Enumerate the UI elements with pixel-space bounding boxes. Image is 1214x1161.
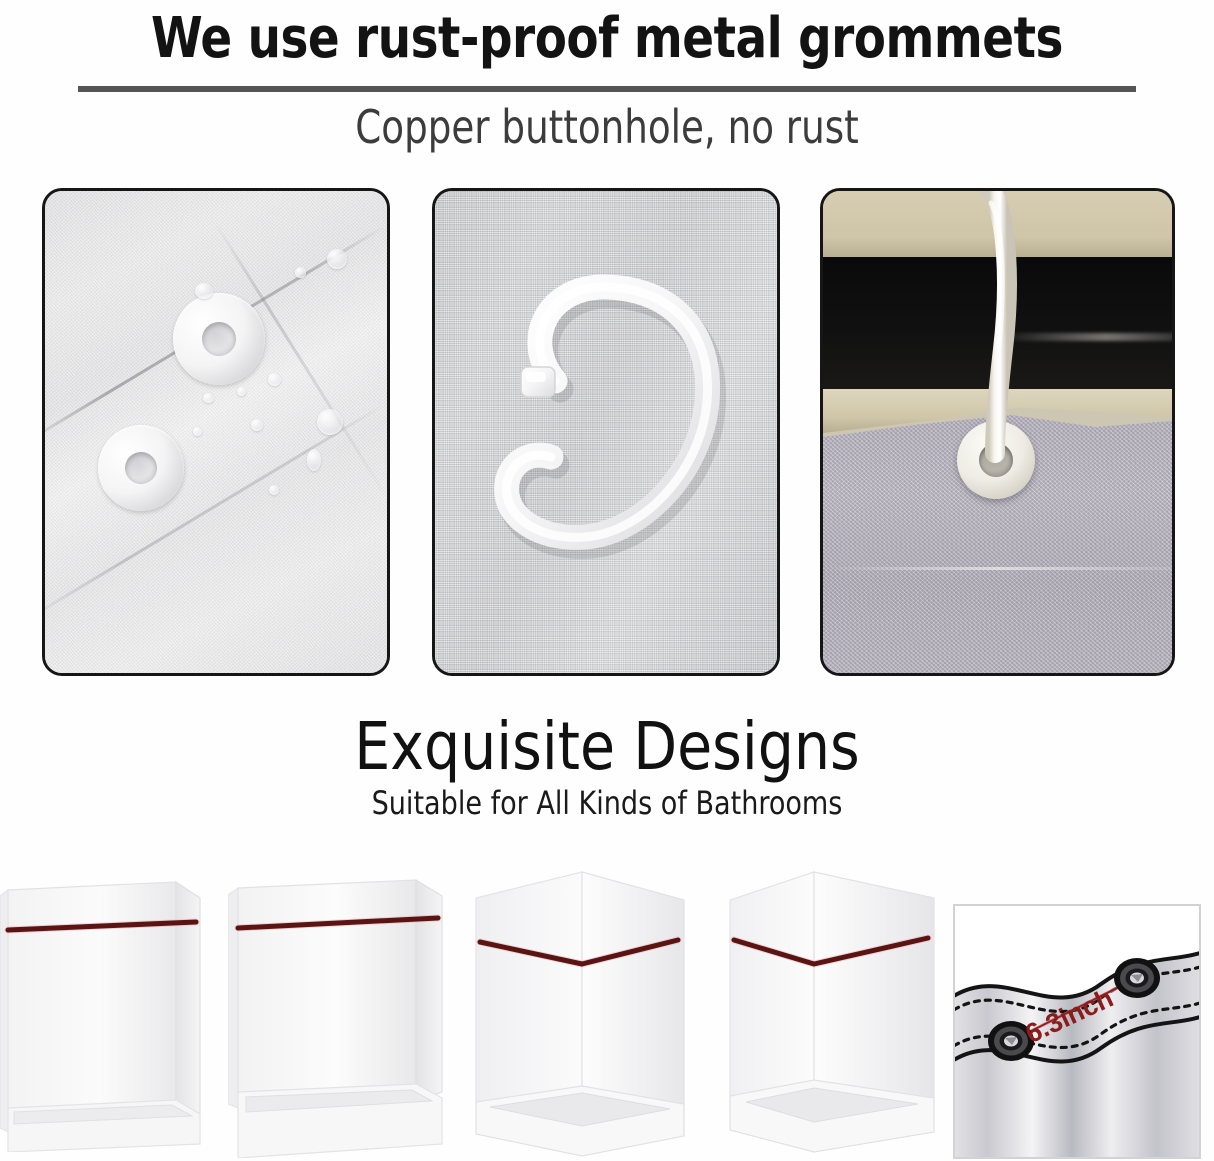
stall-corner-tub-L-rod <box>722 864 948 1161</box>
grommet-hole <box>198 318 239 359</box>
stall-alcove-shower-straight-rod <box>0 872 206 1152</box>
page-subtitle: Copper buttonhole, no rust <box>61 100 1154 154</box>
water-droplet <box>268 373 281 386</box>
photo-card-hook-on-rod <box>820 188 1175 676</box>
water-droplet <box>193 427 202 436</box>
stall-alcove-tub-straight-rod <box>228 868 450 1158</box>
hook-through-grommet-icon <box>973 188 1019 465</box>
water-droplet <box>307 449 321 471</box>
curtain-hook-icon <box>435 191 777 673</box>
infographic-page: We use rust-proof metal grommets Copper … <box>0 0 1214 1161</box>
water-droplet <box>269 485 279 495</box>
stall-corner-shower-L-rod <box>470 864 700 1161</box>
water-droplet <box>195 283 213 299</box>
water-droplet <box>317 409 343 435</box>
section-title: Exquisite Designs <box>24 708 1189 785</box>
grommet-spacing-detail-panel: 6.3inch <box>953 904 1201 1159</box>
stall-illustration-row: 6.3inch <box>0 858 1214 1161</box>
section-subtitle: Suitable for All Kinds of Bathrooms <box>36 784 1177 822</box>
photo-card-grommet-fabric <box>42 188 390 676</box>
bathroom-scene <box>823 191 1172 673</box>
photo-card-curtain-hook <box>432 188 780 676</box>
page-title: We use rust-proof metal grommets <box>42 6 1171 71</box>
water-droplet <box>251 419 263 431</box>
water-droplet <box>295 267 306 278</box>
curtain-seam <box>823 567 1172 570</box>
grommet-hole <box>122 449 161 488</box>
rod-highlight <box>998 333 1176 341</box>
water-droplet <box>327 249 347 269</box>
header-divider <box>78 86 1136 92</box>
photo-row <box>0 188 1214 680</box>
water-droplet <box>237 387 246 396</box>
water-droplet <box>203 393 214 403</box>
